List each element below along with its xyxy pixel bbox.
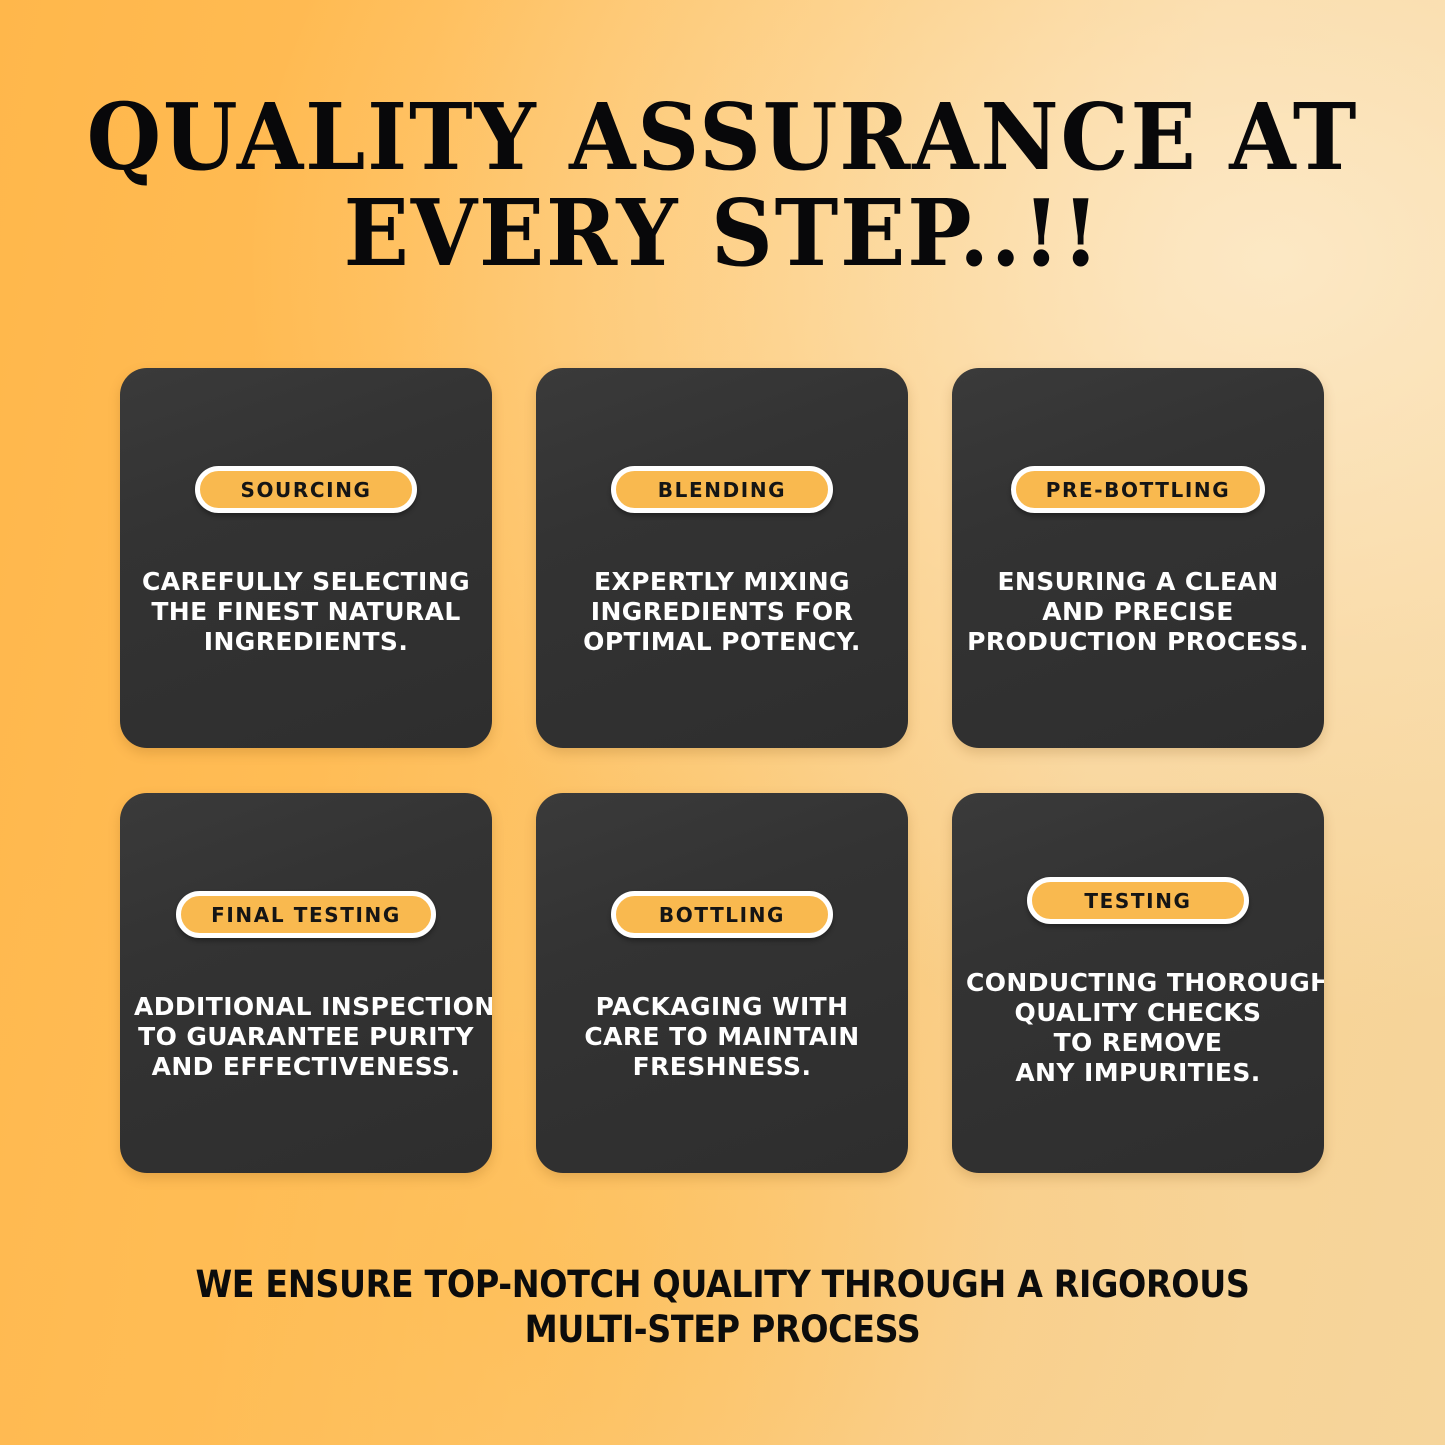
description-line: QUALITY CHECKS: [966, 998, 1310, 1028]
step-badge-label: BOTTLING: [659, 905, 785, 925]
step-badge-sourcing: SOURCING: [195, 466, 417, 513]
step-badge-pre-bottling: PRE-BOTTLING: [1011, 466, 1266, 513]
description-line: INGREDIENTS.: [134, 627, 478, 657]
step-card-testing: TESTING CONDUCTING THOROUGH QUALITY CHEC…: [952, 793, 1324, 1173]
step-description-testing: CONDUCTING THOROUGH QUALITY CHECKS TO RE…: [952, 968, 1324, 1088]
step-description-sourcing: CAREFULLY SELECTING THE FINEST NATURAL I…: [120, 567, 492, 657]
step-card-blending: BLENDING EXPERTLY MIXING INGREDIENTS FOR…: [536, 368, 908, 748]
page-title: QUALITY ASSURANCE AT EVERY STEP..!!: [0, 92, 1445, 278]
step-description-bottling: PACKAGING WITH CARE TO MAINTAIN FRESHNES…: [536, 992, 908, 1082]
description-line: THE FINEST NATURAL: [134, 597, 478, 627]
step-card-final-testing: FINAL TESTING ADDITIONAL INSPECTIONS TO …: [120, 793, 492, 1173]
description-line: ENSURING A CLEAN: [966, 567, 1310, 597]
step-badge-blending: BLENDING: [611, 466, 833, 513]
description-line: AND PRECISE: [966, 597, 1310, 627]
description-line: EXPERTLY MIXING: [550, 567, 894, 597]
description-line: TO REMOVE: [966, 1028, 1310, 1058]
process-step-grid: SOURCING CAREFULLY SELECTING THE FINEST …: [120, 368, 1325, 1173]
step-description-pre-bottling: ENSURING A CLEAN AND PRECISE PRODUCTION …: [952, 567, 1324, 657]
description-line: INGREDIENTS FOR: [550, 597, 894, 627]
title-line-1: QUALITY ASSURANCE AT: [51, 92, 1395, 182]
description-line: CARE TO MAINTAIN: [550, 1022, 894, 1052]
description-line: AND EFFECTIVENESS.: [134, 1052, 478, 1082]
step-card-sourcing: SOURCING CAREFULLY SELECTING THE FINEST …: [120, 368, 492, 748]
title-line-2: EVERY STEP..!!: [51, 188, 1395, 278]
step-card-bottling: BOTTLING PACKAGING WITH CARE TO MAINTAIN…: [536, 793, 908, 1173]
description-line: CONDUCTING THOROUGH: [966, 968, 1310, 998]
step-badge-label: TESTING: [1084, 891, 1191, 911]
step-description-blending: EXPERTLY MIXING INGREDIENTS FOR OPTIMAL …: [536, 567, 908, 657]
description-line: CAREFULLY SELECTING: [134, 567, 478, 597]
footer-line-2: MULTI-STEP PROCESS: [72, 1307, 1373, 1352]
step-badge-bottling: BOTTLING: [611, 891, 833, 938]
step-description-final-testing: ADDITIONAL INSPECTIONS TO GUARANTEE PURI…: [120, 992, 492, 1082]
step-card-pre-bottling: PRE-BOTTLING ENSURING A CLEAN AND PRECIS…: [952, 368, 1324, 748]
step-badge-label: PRE-BOTTLING: [1046, 480, 1231, 500]
description-line: TO GUARANTEE PURITY: [134, 1022, 478, 1052]
step-badge-final-testing: FINAL TESTING: [176, 891, 436, 938]
description-line: OPTIMAL POTENCY.: [550, 627, 894, 657]
description-line: PRODUCTION PROCESS.: [966, 627, 1310, 657]
footer-tagline: WE ENSURE TOP-NOTCH QUALITY THROUGH A RI…: [0, 1262, 1445, 1352]
footer-line-1: WE ENSURE TOP-NOTCH QUALITY THROUGH A RI…: [72, 1262, 1373, 1307]
poster-canvas: QUALITY ASSURANCE AT EVERY STEP..!! SOUR…: [0, 0, 1445, 1445]
description-line: PACKAGING WITH: [550, 992, 894, 1022]
step-badge-testing: TESTING: [1027, 877, 1249, 924]
description-line: ANY IMPURITIES.: [966, 1058, 1310, 1088]
description-line: ADDITIONAL INSPECTIONS: [134, 992, 478, 1022]
step-badge-label: SOURCING: [240, 480, 371, 500]
step-badge-label: FINAL TESTING: [211, 905, 401, 925]
description-line: FRESHNESS.: [550, 1052, 894, 1082]
step-badge-label: BLENDING: [658, 480, 786, 500]
